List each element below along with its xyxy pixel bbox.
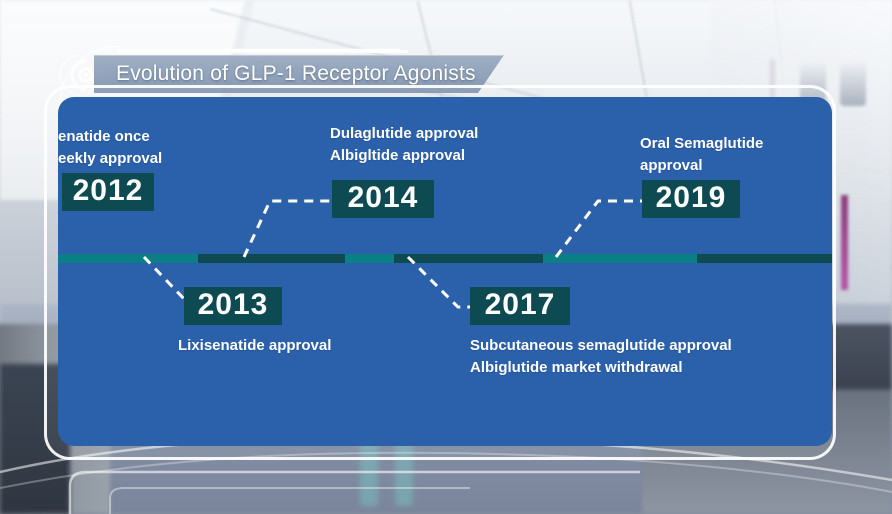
milestone-year-2017[interactable]: 2017 <box>470 287 570 325</box>
timeline-segment <box>543 254 697 263</box>
timeline-segment <box>697 254 832 263</box>
timeline-segment <box>198 254 345 263</box>
timeline-bar <box>58 254 832 263</box>
milestone-description-2014: Dulaglutide approval Albigltide approval <box>330 123 478 167</box>
title-accent-line <box>118 50 408 53</box>
milestone-desc-line: Oral Semaglutide <box>640 133 763 155</box>
milestone-description-2017: Subcutaneous semaglutide approval Albigl… <box>470 335 732 379</box>
timeline-segment <box>394 254 543 263</box>
timeline-panel: enatide once eekly approval 2012 Dulaglu… <box>58 97 832 446</box>
milestone-description-2012: enatide once eekly approval <box>58 126 258 170</box>
slide-canvas: Evolution of GLP-1 Receptor Agonists en <box>0 0 892 514</box>
page-title: Evolution of GLP-1 Receptor Agonists <box>94 62 476 86</box>
milestone-description-2013: Lixisenatide approval <box>178 335 331 357</box>
milestone-desc-line: Dulaglutide approval <box>330 123 478 145</box>
milestone-year-2012[interactable]: 2012 <box>62 173 154 211</box>
milestone-desc-line: Subcutaneous semaglutide approval <box>470 335 732 357</box>
milestone-desc-line: Albiglutide market withdrawal <box>470 357 732 379</box>
timeline-segment <box>345 254 394 263</box>
milestone-desc-line: enatide once <box>58 126 258 148</box>
milestone-desc-line: Lixisenatide approval <box>178 335 331 357</box>
background-lamp <box>840 62 866 106</box>
milestone-year-2019[interactable]: 2019 <box>642 180 740 218</box>
background-reagent-strip <box>841 195 848 290</box>
milestone-year-2013[interactable]: 2013 <box>184 287 282 325</box>
milestone-desc-line: eekly approval <box>58 148 258 170</box>
milestone-year-2014[interactable]: 2014 <box>332 180 434 218</box>
timeline-segment <box>58 254 198 263</box>
milestone-desc-line: approval <box>640 155 763 177</box>
milestone-desc-line: Albigltide approval <box>330 145 478 167</box>
milestone-description-2019: Oral Semaglutide approval <box>640 133 763 177</box>
